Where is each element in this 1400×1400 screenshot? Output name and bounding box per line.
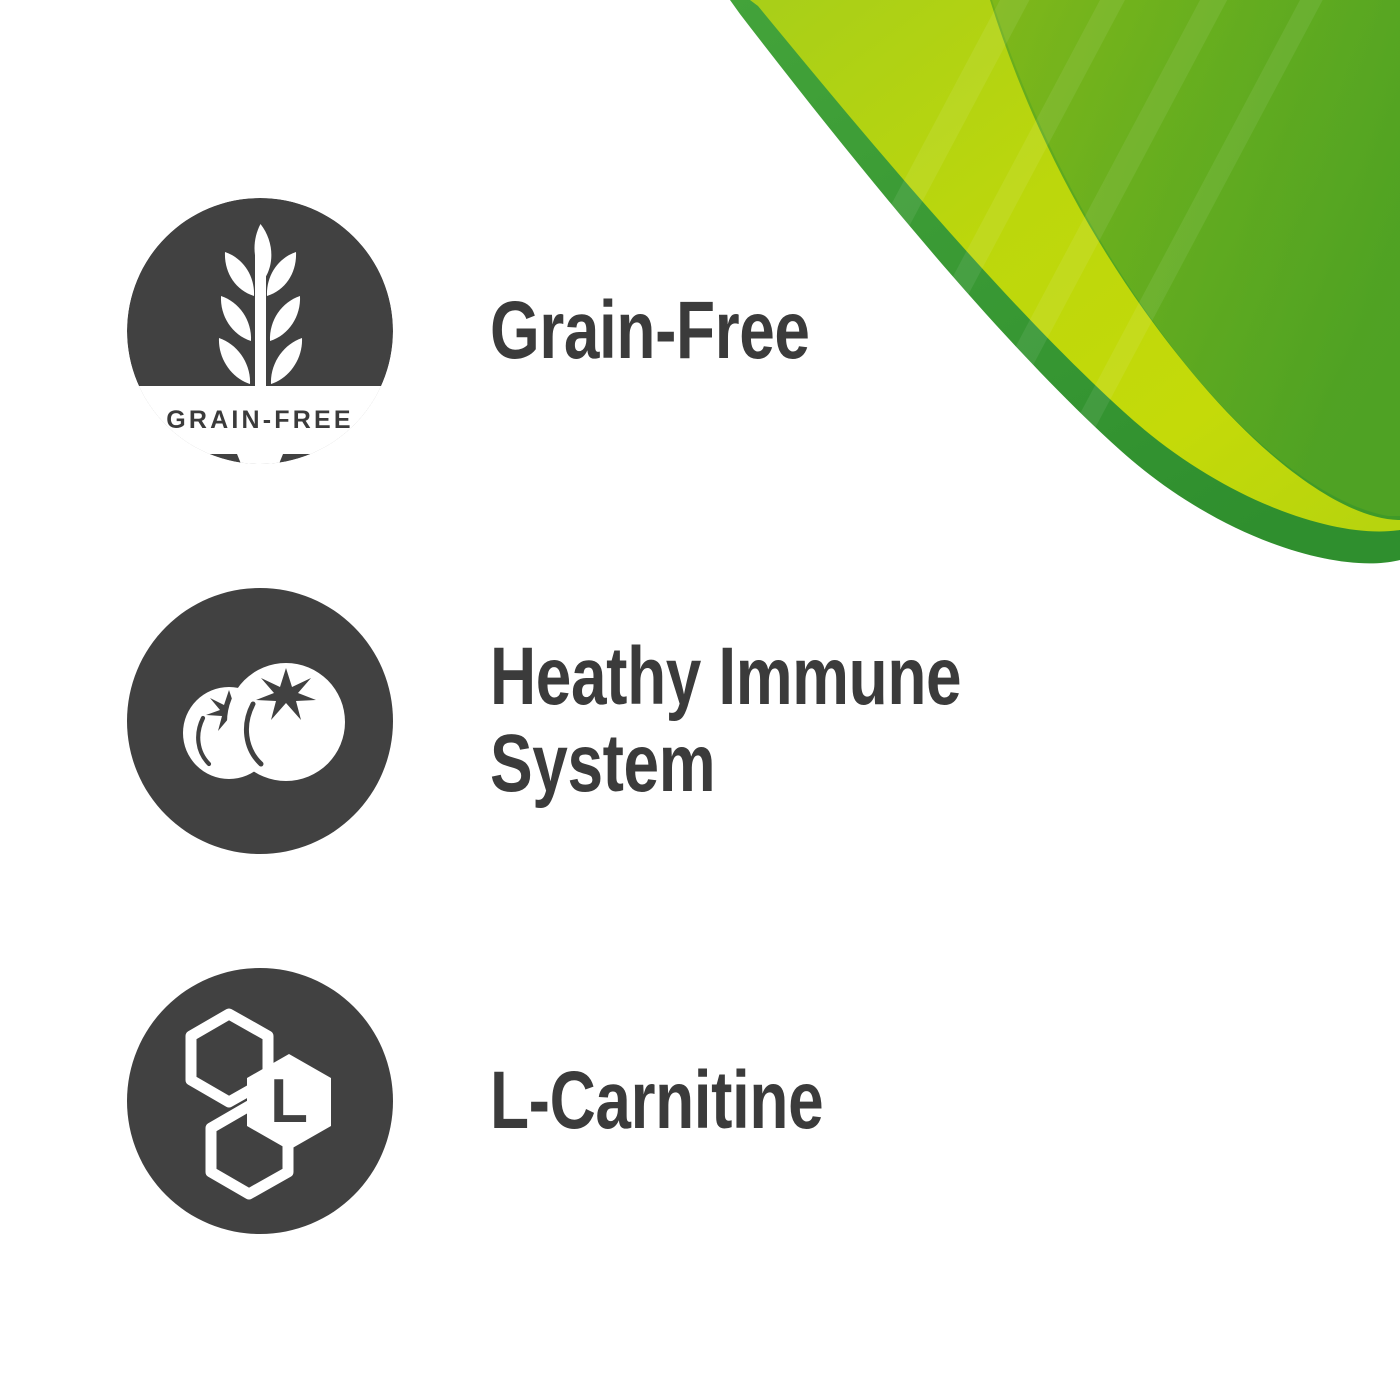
grain-free-badge-text: GRAIN-FREE [166, 406, 354, 434]
feature-row: GRAIN-FREE Grain-Free [125, 196, 1130, 466]
hexagon-l-carnitine-icon: L [125, 966, 395, 1236]
feature-row: Heathy Immune System [125, 586, 1130, 856]
feature-list: GRAIN-FREE Grain-Free [0, 0, 1000, 1400]
grain-free-icon: GRAIN-FREE [125, 196, 395, 466]
feature-label: L-Carnitine [490, 1058, 989, 1145]
tomatoes-icon [125, 586, 395, 856]
l-carnitine-badge-letter: L [270, 1067, 308, 1136]
feature-row: L L-Carnitine [125, 966, 1130, 1236]
feature-label: Grain-Free [490, 288, 989, 375]
feature-label: Heathy Immune System [490, 634, 989, 808]
